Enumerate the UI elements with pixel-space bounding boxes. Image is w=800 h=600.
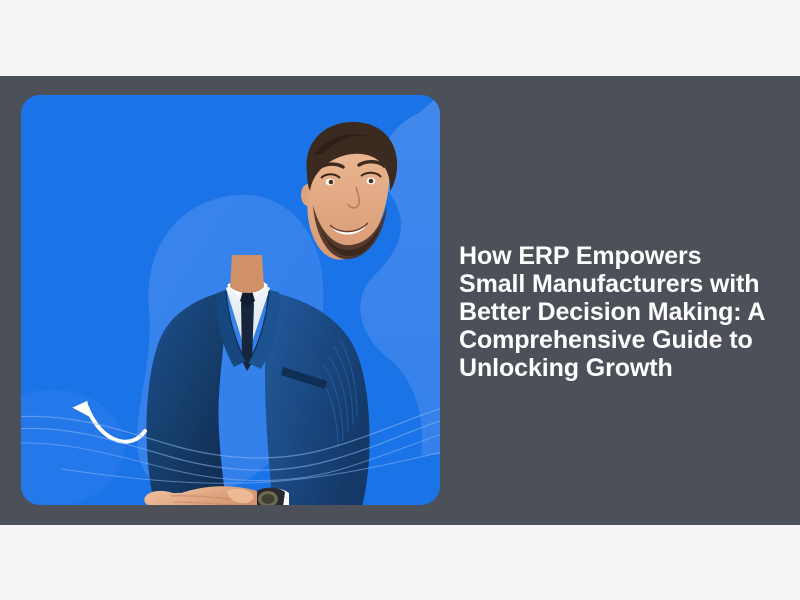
page-title: How ERP Empowers Small Manufacturers wit… [459,242,771,382]
card-decorations [21,95,440,505]
curved-up-arrow-icon [72,396,145,442]
screenshot-root: How ERP Empowers Small Manufacturers wit… [0,0,800,600]
wave-lines-icon [21,407,440,483]
article-media-card[interactable] [21,95,440,505]
